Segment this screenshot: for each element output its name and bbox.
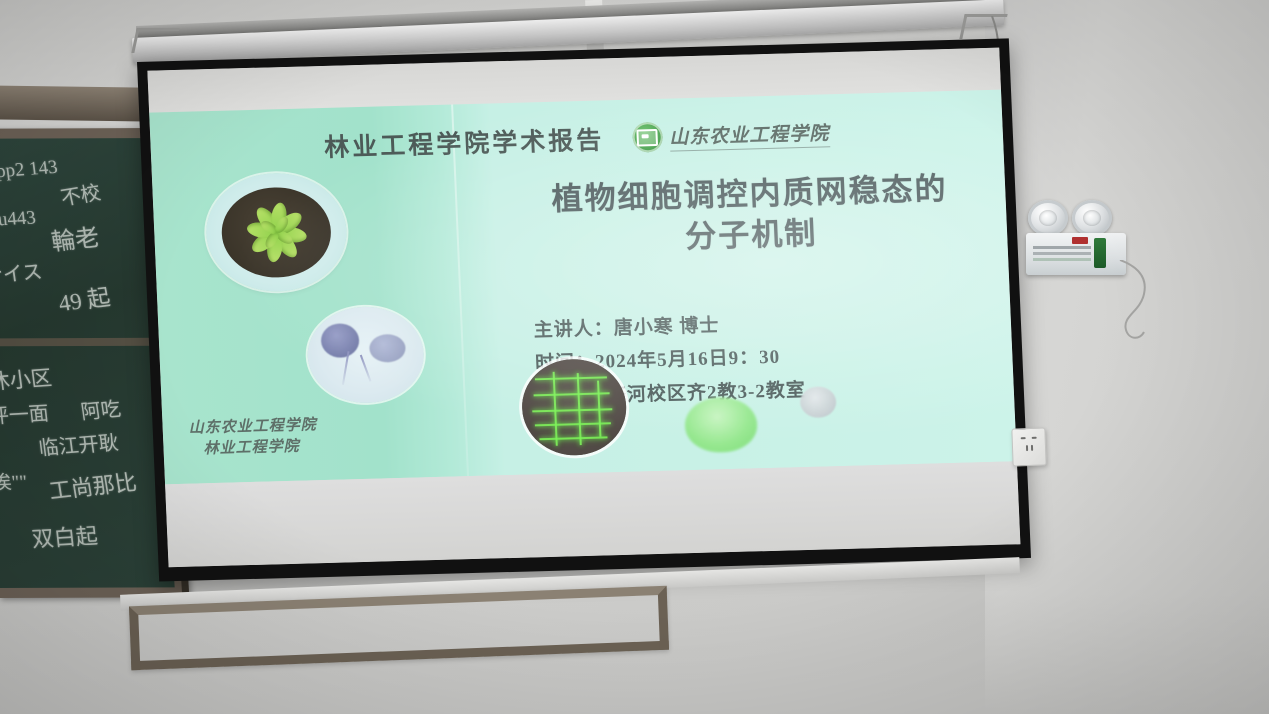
chalkboard-panel-divider [0, 338, 161, 347]
slide-org-line-2: 林业工程学院 [189, 436, 318, 461]
chalk-note: 不校 [58, 176, 103, 211]
petri-dish-soil [220, 186, 333, 279]
projection-screen[interactable]: 林业工程学院学术报告 山东农业工程学院 植物细胞调控内质网稳态的 分子机制 主 [137, 38, 1031, 581]
arabidopsis-plant-photo [204, 171, 349, 293]
chalk-note: 沐小区 [0, 362, 53, 396]
emergency-status-led [1094, 238, 1106, 268]
university-emblem-icon [632, 122, 663, 153]
emergency-light-cord [1118, 260, 1160, 346]
stained-cells-micrograph [306, 305, 426, 404]
chalk-note: Pqu443 [0, 207, 37, 232]
emergency-lamp-right-icon [1072, 200, 1112, 236]
chalk-note: 49 起 [55, 278, 112, 318]
chalk-note: 挨"" [0, 467, 28, 495]
emergency-lamp-left-icon [1028, 200, 1068, 236]
screen-bracket-left [131, 28, 179, 53]
wall-outlet[interactable] [1011, 427, 1046, 466]
emergency-light [1026, 200, 1130, 278]
slide-organization: 山东农业工程学院 林业工程学院 [188, 415, 318, 462]
emergency-red-label [1072, 237, 1088, 244]
emblem-gate-glyph [636, 128, 658, 146]
cell-nucleus [320, 323, 359, 358]
green-blob-decoration [684, 396, 758, 453]
gray-blob-decoration [800, 386, 837, 418]
emergency-label-text [1033, 246, 1091, 249]
cell-nucleus [369, 334, 406, 363]
screen-surface: 林业工程学院学术报告 山东农业工程学院 植物细胞调控内质网稳态的 分子机制 主 [147, 48, 1020, 568]
projected-slide: 林业工程学院学术报告 山东农业工程学院 植物细胞调控内质网稳态的 分子机制 主 [149, 90, 1017, 485]
slide-header: 林业工程学院学术报告 山东农业工程学院 [150, 108, 1004, 171]
slide-header-title: 林业工程学院学术报告 [323, 120, 604, 164]
university-logo: 山东农业工程学院 [632, 117, 830, 152]
chalk-note: ナイス [0, 255, 44, 289]
slide-title: 植物细胞调控内质网稳态的 分子机制 [510, 168, 990, 263]
chalk-note: popp2 143 [0, 157, 59, 185]
chalk-note: 临江开耿 [37, 426, 120, 461]
chalk-note: 双白起 [30, 518, 99, 554]
university-logo-name: 山东农业工程学院 [669, 118, 830, 151]
chalk-note: 阿吃 [79, 392, 123, 424]
cell-filament [360, 355, 372, 382]
classroom-photo-scene: popp2 143 不校 Pqu443 輪老 ナイス 49 起 沐小区 评一面 … [0, 0, 1269, 714]
chalk-note: 评一面 [0, 397, 50, 429]
chalk-note: 工尚那比 [46, 465, 138, 506]
emergency-light-body [1026, 233, 1126, 275]
confocal-er-network-micrograph [520, 358, 628, 457]
chalk-note: 輪老 [48, 217, 101, 257]
